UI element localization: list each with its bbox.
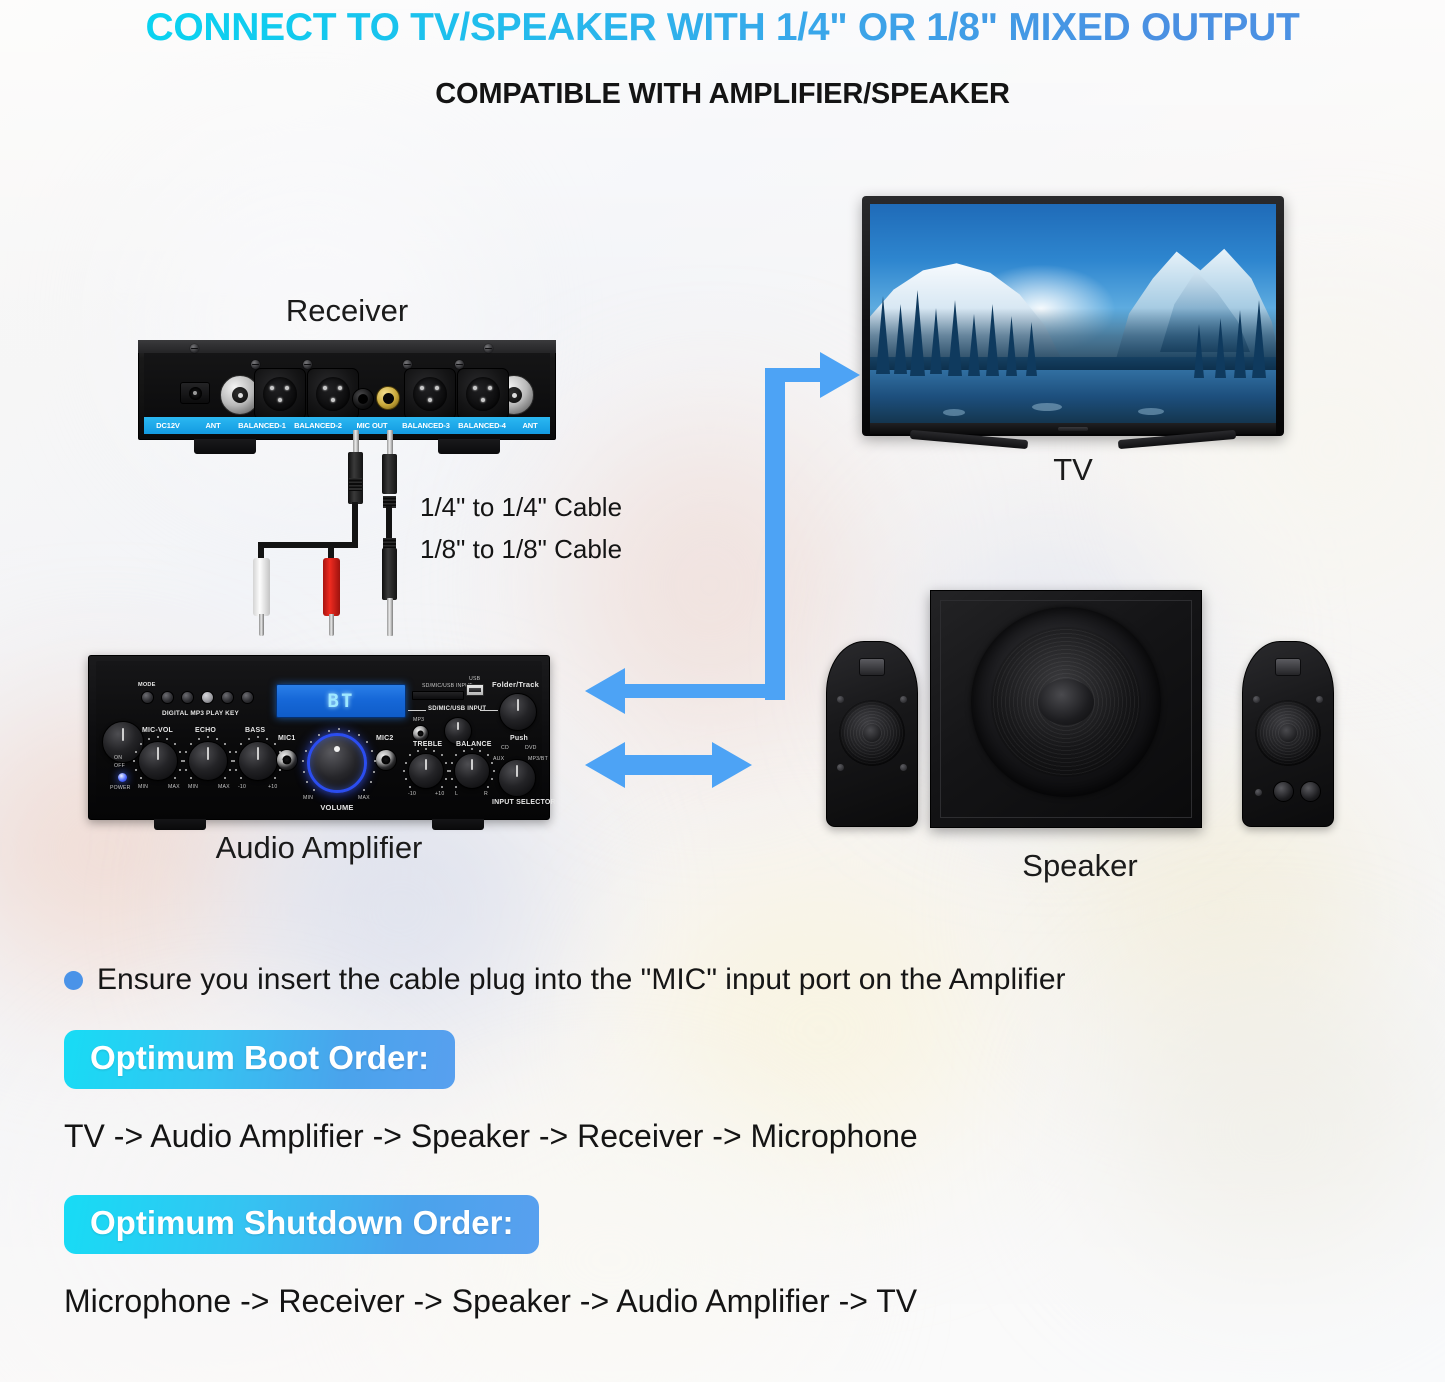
satellite-speaker-left	[826, 641, 918, 827]
knob-tick	[403, 770, 405, 772]
amplifier-caption: Audio Amplifier	[88, 830, 550, 866]
arrow-tv-to-amplifier-icon	[585, 668, 785, 714]
usb-label: USB	[469, 676, 480, 682]
page-title: CONNECT TO TV/SPEAKER WITH 1/4" OR 1/8" …	[0, 6, 1445, 50]
knob-tick	[257, 736, 259, 738]
knob-tick	[185, 769, 187, 771]
mic-out-jack-black	[352, 388, 374, 410]
xlr-pin	[338, 386, 342, 390]
satellite-driver	[1255, 700, 1321, 766]
prev-button[interactable]	[161, 691, 174, 704]
receiver-port-label-balanced-2: BALANCED-2	[290, 422, 346, 430]
knob-tick	[166, 738, 168, 740]
quarter-inch-tip-top	[387, 430, 393, 456]
mp3-play-key-label: DIGITAL MP3 PLAY KEY	[162, 710, 239, 717]
input-selector-knob[interactable]	[498, 759, 536, 797]
shutdown-order-text: Microphone -> Receiver -> Speaker -> Aud…	[64, 1283, 917, 1320]
xlr-pin	[428, 398, 432, 402]
treble-label: TREBLE	[413, 741, 442, 748]
volume-label: VOLUME	[307, 803, 367, 812]
xlr-socket	[466, 377, 500, 411]
mic1-label: MIC1	[278, 735, 296, 742]
input-divider-left	[408, 710, 426, 711]
speaker-screw	[1253, 696, 1260, 703]
knob-tick	[338, 728, 340, 730]
shutdown-order-badge: Optimum Shutdown Order:	[64, 1195, 539, 1254]
balance-label: BALANCE	[456, 741, 492, 748]
amplifier-foot	[154, 819, 206, 830]
xlr-pin	[473, 386, 477, 390]
knob-tick	[183, 760, 185, 762]
receiver-port-label-ant-right: ANT	[510, 422, 550, 430]
volume-min: MIN	[303, 795, 313, 801]
echo-min: MIN	[188, 784, 198, 790]
knob-tick	[281, 760, 283, 762]
subwoofer-dustcap	[1038, 679, 1094, 725]
balance-right: R	[484, 791, 488, 797]
cable-label-eighth-inch: 1/8" to 1/8" Cable	[420, 534, 622, 565]
selector-option-mp3: MP3/BT	[528, 756, 548, 762]
arrow-amplifier-speaker-icon	[585, 742, 752, 788]
tv-caption: TV	[862, 452, 1284, 488]
speaker-system	[810, 585, 1350, 835]
quarter-inch-plug-top	[382, 454, 397, 494]
knob-tick	[471, 748, 473, 750]
folder-track-knob[interactable]	[499, 693, 537, 731]
mic2-input-jack[interactable]	[375, 749, 397, 771]
speaker-bass-knob[interactable]	[1300, 781, 1321, 802]
knob-tick	[441, 786, 443, 788]
lcd-display: BT	[276, 684, 406, 718]
knob-tick	[157, 736, 159, 738]
lcd-display-value: BT	[328, 690, 355, 712]
volume-max: MAX	[358, 795, 370, 801]
repeat-button[interactable]	[201, 691, 214, 704]
mode-button-label: MODE	[138, 682, 156, 688]
speaker-screw	[900, 764, 907, 771]
mic-out-jack-gold	[376, 386, 400, 410]
mic2-label: MIC2	[376, 735, 394, 742]
knob-tick	[140, 777, 142, 779]
knob-tick	[248, 738, 250, 740]
cable-label-quarter-inch: 1/4" to 1/4" Cable	[420, 492, 622, 523]
xlr-pin	[435, 386, 439, 390]
tv-image-rock	[1138, 408, 1164, 415]
receiver-foot	[438, 439, 500, 454]
treble-knob[interactable]	[408, 753, 444, 789]
knob-tick	[207, 736, 209, 738]
mic-vol-knob[interactable]	[138, 741, 178, 781]
xlr-pin	[481, 398, 485, 402]
audio-amplifier-device: ON OFF POWER MODE DIGITAL MP3 PLAY KEY M…	[88, 655, 550, 820]
selector-option-cd: CD	[501, 745, 509, 751]
knob-tick	[140, 743, 142, 745]
bass-max: +10	[268, 784, 277, 790]
usb-port[interactable]	[466, 684, 484, 696]
knob-tick	[190, 743, 192, 745]
knob-tick	[240, 743, 242, 745]
knob-tick	[487, 786, 489, 788]
knob-tick	[185, 751, 187, 753]
knob-tick	[148, 738, 150, 740]
quarter-inch-wire	[386, 506, 392, 542]
knob-tick	[224, 743, 226, 745]
bass-label: BASS	[245, 727, 265, 734]
mode-button[interactable]	[141, 691, 154, 704]
quarter-inch-plug-bottom	[382, 548, 397, 600]
receiver-port-label-ant-left: ANT	[192, 422, 234, 430]
knob-tick	[305, 750, 307, 752]
trs-tip-upper	[353, 430, 359, 454]
knob-tick	[274, 743, 276, 745]
bass-min: -10	[238, 784, 246, 790]
bass-knob[interactable]	[238, 741, 278, 781]
echo-label: ECHO	[195, 727, 216, 734]
xlr-pin	[331, 398, 335, 402]
receiver-device: DC12V ANT BALANCED-1 BALANCED-2 MIC OUT …	[138, 340, 556, 440]
folder-track-label: Folder/Track	[492, 680, 539, 689]
receiver-screw	[190, 344, 199, 353]
trs-ridges	[349, 478, 362, 491]
input-selector-label: INPUT SELECTOR	[492, 799, 556, 806]
receiver-port-label-balanced-1: BALANCED-1	[234, 422, 290, 430]
tv-screen	[870, 204, 1276, 423]
speaker-screw	[900, 696, 907, 703]
knob-tick	[216, 738, 218, 740]
xlr-pin	[285, 386, 289, 390]
knob-tick	[328, 730, 330, 732]
speaker-badge-icon	[1275, 658, 1301, 676]
xlr-pin	[488, 386, 492, 390]
rca-plug-white	[253, 558, 270, 616]
receiver-port-label-balanced-3: BALANCED-3	[398, 422, 454, 430]
treble-max: +10	[435, 791, 444, 797]
receiver-screw	[484, 344, 493, 353]
knob-tick	[425, 748, 427, 750]
xlr-balanced-1	[254, 368, 306, 420]
xlr-pin	[270, 386, 274, 390]
next-button[interactable]	[221, 691, 234, 704]
xlr-balanced-3	[404, 368, 456, 420]
xlr-pin	[278, 398, 282, 402]
power-led-icon	[118, 773, 127, 782]
balance-left: L	[455, 791, 458, 797]
note-bullet-row: Ensure you insert the cable plug into th…	[64, 963, 1066, 997]
receiver-port-label-balanced-4: BALANCED-4	[454, 422, 510, 430]
receiver-caption: Receiver	[138, 293, 556, 329]
tv-device	[862, 196, 1284, 436]
tv-image-mist	[870, 308, 1276, 370]
bullet-dot-icon	[64, 971, 83, 990]
amplifier-foot	[432, 819, 484, 830]
sd-mmc-label: SD/MIC/USB INPUT	[422, 683, 472, 689]
knob-tick	[174, 777, 176, 779]
mp3-jack-label: MP3	[413, 717, 424, 723]
receiver-foot	[194, 439, 256, 454]
knob-tick	[224, 777, 226, 779]
xlr-socket	[263, 377, 297, 411]
power-label: POWER	[110, 785, 131, 791]
knob-tick	[449, 770, 451, 772]
speaker-caption: Speaker	[810, 848, 1350, 884]
rca-pin-red	[329, 614, 334, 636]
rca-pin-white	[259, 614, 264, 636]
selector-option-aux: AUX	[493, 756, 504, 762]
note-bullet-text: Ensure you insert the cable plug into th…	[97, 963, 1066, 997]
receiver-port-label-mic-out: MIC OUT	[346, 422, 398, 430]
knob-tick	[229, 751, 231, 753]
knob-tick	[174, 743, 176, 745]
quarter-inch-tip-bottom	[387, 598, 393, 636]
speaker-screw	[1255, 789, 1262, 796]
speaker-screw	[837, 696, 844, 703]
knob-tick	[303, 771, 305, 773]
knob-tick	[135, 751, 137, 753]
xlr-balanced-4	[457, 368, 509, 420]
stop-button[interactable]	[181, 691, 194, 704]
play-button[interactable]	[241, 691, 254, 704]
subwoofer-driver	[971, 607, 1161, 797]
mic-vol-min: MIN	[138, 784, 148, 790]
knob-tick	[405, 762, 407, 764]
knob-tick	[235, 769, 237, 771]
standby-off-label: OFF	[114, 763, 125, 769]
knob-tick	[235, 751, 237, 753]
satellite-speaker-right	[1242, 641, 1334, 827]
balance-knob[interactable]	[454, 753, 490, 789]
sd-card-slot[interactable]	[412, 691, 464, 700]
standby-on-label: ON	[114, 755, 122, 761]
receiver-port-label-dc12v: DC12V	[144, 422, 192, 430]
subwoofer	[930, 590, 1202, 828]
mp3-aux-jack[interactable]	[412, 725, 429, 742]
xlr-socket	[413, 377, 447, 411]
xlr-balanced-2	[307, 368, 359, 420]
dc-power-jack	[180, 382, 210, 404]
knob-tick	[198, 738, 200, 740]
receiver-top-edge	[138, 340, 556, 353]
knob-tick	[179, 751, 181, 753]
page-subtitle: COMPATIBLE WITH AMPLIFIER/SPEAKER	[0, 78, 1445, 111]
cable-wire-horizontal	[258, 542, 358, 548]
sd-mic-usb-input-label: SD/MIC/USB INPUT	[428, 706, 486, 712]
speaker-screw	[837, 764, 844, 771]
cable-assembly	[250, 430, 420, 650]
mic-vol-max: MAX	[168, 784, 180, 790]
knob-tick	[279, 751, 281, 753]
knob-tick	[240, 777, 242, 779]
knob-tick	[451, 762, 453, 764]
treble-min: -10	[408, 791, 416, 797]
speaker-volume-knob[interactable]	[1273, 781, 1294, 802]
xlr-pin	[420, 386, 424, 390]
tv-image-rock	[943, 409, 965, 416]
volume-knob[interactable]	[307, 733, 367, 793]
selector-option-dvd: DVD	[525, 745, 537, 751]
knob-tick	[370, 781, 372, 783]
knob-tick	[493, 770, 495, 772]
speaker-screw	[1316, 696, 1323, 703]
push-label: Push	[510, 735, 528, 742]
xlr-pin	[323, 386, 327, 390]
rca-plug-red	[323, 558, 340, 616]
knob-tick	[233, 760, 235, 762]
boot-order-badge: Optimum Boot Order:	[64, 1030, 455, 1089]
mic-vol-label: MIC-VOL	[142, 727, 173, 734]
knob-tick	[463, 750, 465, 752]
echo-max: MAX	[218, 784, 230, 790]
echo-knob[interactable]	[188, 741, 228, 781]
speaker-badge-icon	[859, 658, 885, 676]
knob-tick	[266, 738, 268, 740]
knob-tick	[274, 777, 276, 779]
knob-tick	[133, 760, 135, 762]
knob-tick	[190, 777, 192, 779]
satellite-driver	[839, 700, 905, 766]
knob-tick	[135, 769, 137, 771]
boot-order-text: TV -> Audio Amplifier -> Speaker -> Rece…	[64, 1118, 918, 1155]
xlr-socket	[316, 377, 350, 411]
knob-tick	[366, 741, 368, 743]
knob-tick	[417, 750, 419, 752]
